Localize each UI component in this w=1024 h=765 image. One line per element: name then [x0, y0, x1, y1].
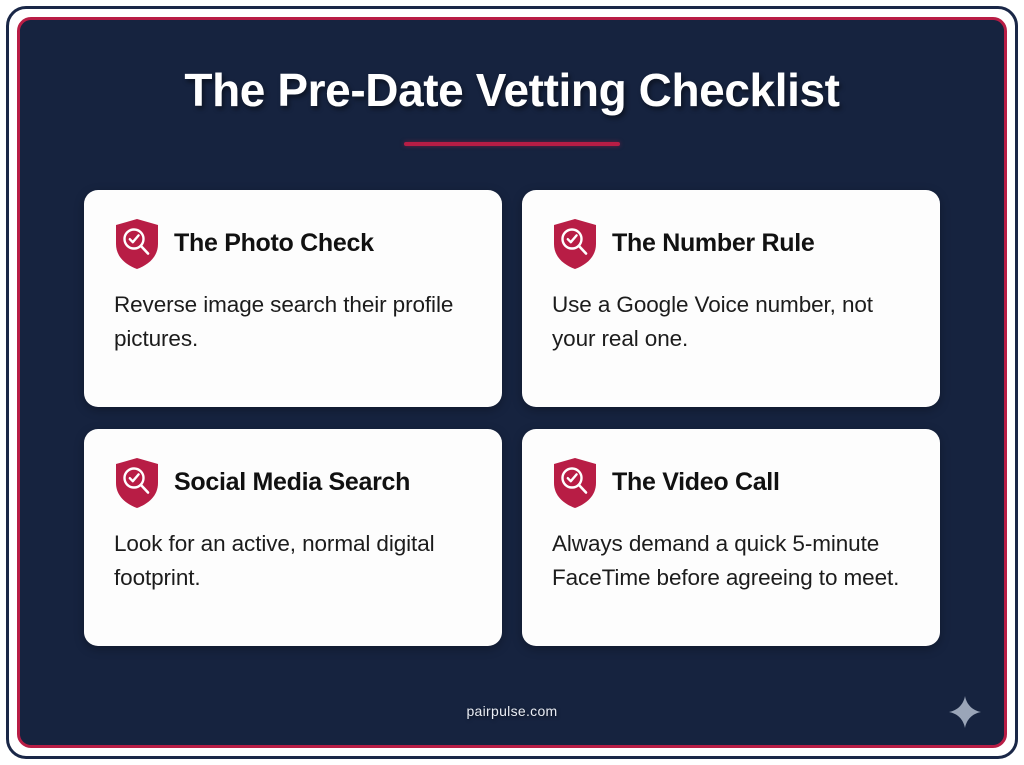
- checklist-card[interactable]: The Video Call Always demand a quick 5-m…: [522, 429, 940, 646]
- card-body-text: Reverse image search their profile pictu…: [114, 288, 472, 356]
- card-header: The Video Call: [552, 455, 910, 511]
- card-body-text: Use a Google Voice number, not your real…: [552, 288, 910, 356]
- shield-magnifier-check-icon: [552, 218, 598, 270]
- card-title: The Video Call: [612, 468, 780, 497]
- poster-canvas: The Pre-Date Vetting Checklist T: [20, 20, 1004, 745]
- title-accent-underline: [404, 142, 620, 146]
- card-body-text: Always demand a quick 5-minute FaceTime …: [552, 527, 910, 595]
- card-header: Social Media Search: [114, 455, 472, 511]
- poster-crimson-border: The Pre-Date Vetting Checklist T: [17, 17, 1007, 748]
- checklist-card-grid: The Photo Check Reverse image search the…: [84, 190, 940, 646]
- poster-navy-border: The Pre-Date Vetting Checklist T: [6, 6, 1018, 759]
- shield-magnifier-check-icon: [114, 218, 160, 270]
- footer: pairpulse.com: [20, 703, 1004, 719]
- card-header: The Photo Check: [114, 216, 472, 272]
- card-title: The Number Rule: [612, 229, 814, 258]
- card-header: The Number Rule: [552, 216, 910, 272]
- card-body-text: Look for an active, normal digital footp…: [114, 527, 472, 595]
- card-title: Social Media Search: [174, 468, 410, 497]
- checklist-card[interactable]: Social Media Search Look for an active, …: [84, 429, 502, 646]
- checklist-card[interactable]: The Photo Check Reverse image search the…: [84, 190, 502, 407]
- page-title: The Pre-Date Vetting Checklist: [184, 66, 839, 116]
- shield-magnifier-check-icon: [114, 457, 160, 509]
- card-title: The Photo Check: [174, 229, 374, 258]
- footer-website-url[interactable]: pairpulse.com: [466, 703, 557, 719]
- sparkle-icon: [948, 695, 982, 729]
- checklist-card[interactable]: The Number Rule Use a Google Voice numbe…: [522, 190, 940, 407]
- poster-outer-frame: The Pre-Date Vetting Checklist T: [0, 0, 1024, 765]
- shield-magnifier-check-icon: [552, 457, 598, 509]
